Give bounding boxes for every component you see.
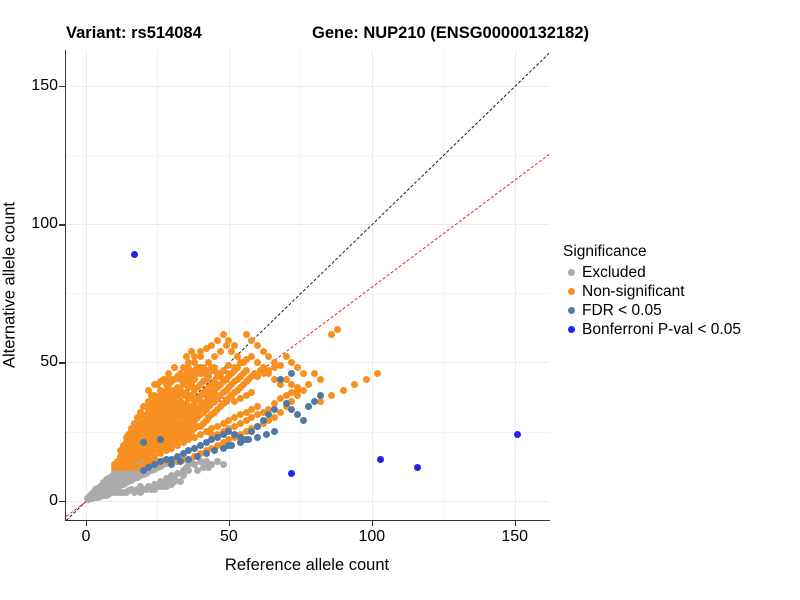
data-point	[197, 348, 204, 355]
legend-key-fdr	[563, 307, 580, 314]
x-axis-tick-label: 0	[82, 528, 91, 546]
y-axis-tick-label: 150	[31, 77, 58, 95]
data-point	[305, 381, 312, 388]
gridline-minor	[443, 50, 444, 520]
data-point	[377, 456, 384, 463]
data-point	[340, 387, 347, 394]
data-point	[220, 461, 227, 468]
gridline-minor	[300, 50, 301, 520]
data-point	[248, 389, 255, 396]
data-point	[163, 431, 170, 438]
data-point	[217, 373, 224, 380]
data-point	[311, 398, 318, 405]
gridline-minor	[66, 155, 549, 156]
legend-item-fdr[interactable]: FDR < 0.05	[563, 301, 741, 320]
variant-title: Variant: rs514084	[66, 24, 202, 43]
y-axis-tick	[59, 362, 65, 363]
gridline-major	[66, 362, 549, 363]
data-point	[131, 251, 138, 258]
data-point	[363, 376, 370, 383]
legend-dot-icon	[568, 307, 575, 314]
plot-panel	[66, 50, 549, 520]
legend-dot-icon	[568, 326, 575, 333]
data-point	[414, 464, 421, 471]
data-point	[288, 370, 295, 377]
legend-label: Excluded	[582, 264, 646, 282]
data-point	[334, 326, 341, 333]
legend-dot-icon	[568, 288, 575, 295]
gridline-minor	[66, 293, 549, 294]
gridline-major	[66, 501, 549, 502]
data-point	[300, 417, 307, 424]
data-point	[140, 467, 147, 474]
data-point	[168, 461, 175, 468]
data-point	[514, 431, 521, 438]
data-point	[137, 489, 144, 496]
legend-label: Non-significant	[582, 283, 685, 301]
data-point	[374, 370, 381, 377]
x-axis-tick	[86, 520, 87, 526]
data-point	[243, 356, 250, 363]
gene-title: Gene: NUP210 (ENSG00000132182)	[312, 24, 589, 43]
data-point	[203, 450, 210, 457]
x-axis-tick	[372, 520, 373, 526]
data-point	[211, 447, 218, 454]
legend-label: Bonferroni P-val < 0.05	[582, 321, 741, 339]
data-point	[317, 376, 324, 383]
data-point	[254, 434, 261, 441]
x-axis-tick-label: 100	[358, 528, 385, 546]
x-axis-tick-label: 150	[501, 528, 528, 546]
data-point	[271, 406, 278, 413]
gridline-major	[66, 86, 549, 87]
data-point	[328, 331, 335, 338]
data-point	[263, 431, 270, 438]
data-point	[214, 423, 221, 430]
gridline-major	[66, 224, 549, 225]
legend-title: Significance	[563, 243, 741, 261]
data-point	[183, 381, 190, 388]
data-point	[288, 470, 295, 477]
data-point	[177, 387, 184, 394]
data-point	[271, 359, 278, 366]
data-point	[260, 417, 267, 424]
legend-key-bonf	[563, 326, 580, 333]
y-axis-tick-label: 50	[40, 353, 58, 371]
y-axis-tick-label: 100	[31, 215, 58, 233]
gridline-major	[229, 50, 230, 520]
data-point	[240, 436, 247, 443]
data-point	[171, 478, 178, 485]
data-point	[223, 342, 230, 349]
x-axis-tick	[515, 520, 516, 526]
data-point	[123, 464, 130, 471]
data-point	[174, 420, 181, 427]
legend-item-nonsig[interactable]: Non-significant	[563, 282, 741, 301]
legend: Significance ExcludedNon-significantFDR …	[563, 243, 741, 339]
data-point	[197, 398, 204, 405]
plot-root: Variant: rs514084 Gene: NUP210 (ENSG0000…	[0, 0, 800, 600]
data-point	[271, 428, 278, 435]
data-point	[254, 403, 261, 410]
data-point	[200, 464, 207, 471]
data-point	[277, 376, 284, 383]
x-axis-tick-label: 50	[220, 528, 238, 546]
data-point	[294, 392, 301, 399]
gridline-major	[86, 50, 87, 520]
x-axis-line	[65, 520, 550, 521]
data-point	[211, 353, 218, 360]
legend-item-bonf[interactable]: Bonferroni P-val < 0.05	[563, 320, 741, 339]
legend-label: FDR < 0.05	[582, 302, 662, 320]
data-point	[160, 483, 167, 490]
legend-items: ExcludedNon-significantFDR < 0.05Bonferr…	[563, 263, 741, 339]
gridline-major	[515, 50, 516, 520]
data-point	[300, 370, 307, 377]
data-point	[217, 348, 224, 355]
data-point	[214, 337, 221, 344]
x-axis-title: Reference allele count	[225, 556, 389, 575]
data-point	[208, 387, 215, 394]
data-point	[271, 414, 278, 421]
legend-key-excluded	[563, 269, 580, 276]
y-axis-tick	[59, 224, 65, 225]
y-axis-title: Alternative allele count	[1, 202, 20, 368]
y-axis-tick	[59, 86, 65, 87]
data-point	[140, 439, 147, 446]
data-point	[180, 472, 187, 479]
legend-dot-icon	[568, 269, 575, 276]
legend-item-excluded[interactable]: Excluded	[563, 263, 741, 282]
x-axis-tick	[229, 520, 230, 526]
data-point	[191, 434, 198, 441]
data-point	[214, 381, 221, 388]
data-point	[311, 370, 318, 377]
data-point	[254, 423, 261, 430]
data-point	[160, 403, 167, 410]
data-point	[294, 384, 301, 391]
data-point	[165, 398, 172, 405]
legend-key-nonsig	[563, 288, 580, 295]
data-point	[145, 387, 152, 394]
data-point	[194, 453, 201, 460]
data-point	[328, 392, 335, 399]
y-axis-tick	[59, 501, 65, 502]
data-point	[154, 409, 161, 416]
y-axis-line	[65, 50, 66, 521]
data-point	[317, 392, 324, 399]
data-point	[351, 381, 358, 388]
y-axis-tick-label: 0	[49, 492, 58, 510]
data-point	[123, 439, 130, 446]
